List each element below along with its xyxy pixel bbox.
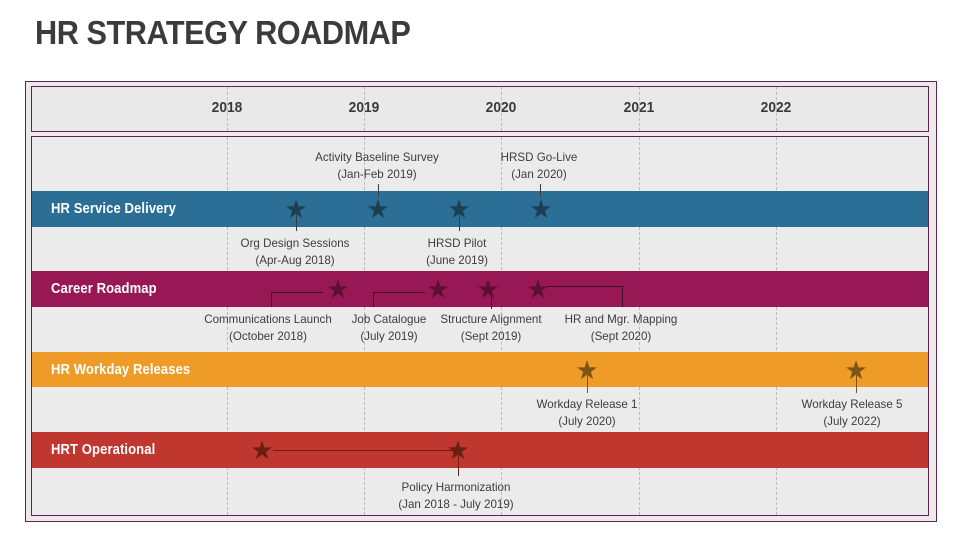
callout-title-hrsd-go-live: HRSD Go-Live	[501, 149, 578, 166]
milestone-star-hr-and-mgr-mapping[interactable]: ★	[526, 276, 549, 302]
callout-title-job-catalogue: Job Catalogue	[352, 311, 427, 328]
callout-communications-launch: Communications Launch(October 2018)	[204, 311, 332, 345]
callout-org-design-sessions: Org Design Sessions(Apr-Aug 2018)	[241, 235, 350, 269]
conn-job-catalogue-v	[373, 292, 374, 307]
callout-date-hrsd-go-live: (Jan 2020)	[501, 166, 578, 183]
lane-hr-service-delivery[interactable]: HR Service Delivery	[32, 191, 929, 227]
callout-date-policy-harmonization: (Jan 2018 - July 2019)	[398, 496, 513, 513]
callout-title-hr-and-mgr-mapping: HR and Mgr. Mapping	[565, 311, 678, 328]
milestone-star-job-catalogue[interactable]: ★	[426, 276, 449, 302]
lane-label-hr-service-delivery: HR Service Delivery	[51, 201, 176, 217]
milestone-star-structure-alignment[interactable]: ★	[476, 276, 499, 302]
callout-hr-and-mgr-mapping: HR and Mgr. Mapping(Sept 2020)	[565, 311, 678, 345]
milestone-star-activity-baseline-survey[interactable]: ★	[366, 196, 389, 222]
roadmap-body: HR Service Delivery★★★★Activity Baseline…	[31, 136, 929, 516]
milestone-star-policy-harmonization-end[interactable]: ★	[446, 437, 469, 463]
callout-date-structure-alignment: (Sept 2019)	[440, 328, 541, 345]
milestone-star-policy-harmonization-start[interactable]: ★	[250, 437, 273, 463]
milestone-star-communications-launch[interactable]: ★	[326, 276, 349, 302]
page-title: HR STRATEGY ROADMAP	[35, 14, 410, 52]
callout-hrsd-pilot: HRSD Pilot(June 2019)	[426, 235, 488, 269]
callout-title-activity-baseline-survey: Activity Baseline Survey	[315, 149, 439, 166]
callout-date-workday-release-5: (July 2022)	[802, 413, 903, 430]
callout-date-workday-release-1: (July 2020)	[537, 413, 638, 430]
conn-hr-mgr-mapping-h	[547, 286, 622, 287]
callout-date-hrsd-pilot: (June 2019)	[426, 252, 488, 269]
callout-structure-alignment: Structure Alignment(Sept 2019)	[440, 311, 541, 345]
conn-communications-launch-v	[271, 292, 272, 307]
lane-label-hr-workday-releases: HR Workday Releases	[51, 362, 190, 378]
milestone-star-workday-release-1[interactable]: ★	[575, 357, 598, 383]
gridline-2019-header	[364, 87, 365, 131]
callout-title-workday-release-5: Workday Release 5	[802, 396, 903, 413]
callout-date-job-catalogue: (July 2019)	[352, 328, 427, 345]
milestone-star-hrsd-go-live[interactable]: ★	[529, 196, 552, 222]
callout-title-org-design-sessions: Org Design Sessions	[241, 235, 350, 252]
gridline-2018-header	[227, 87, 228, 131]
lane-label-hrt-operational: HRT Operational	[51, 442, 155, 458]
conn-job-catalogue-h	[373, 292, 425, 293]
callout-title-communications-launch: Communications Launch	[204, 311, 332, 328]
lane-hr-workday-releases[interactable]: HR Workday Releases	[32, 352, 929, 387]
callout-hrsd-go-live: HRSD Go-Live(Jan 2020)	[501, 149, 578, 183]
lane-hrt-operational[interactable]: HRT Operational	[32, 432, 929, 468]
callout-job-catalogue: Job Catalogue(July 2019)	[352, 311, 427, 345]
lane-label-career-roadmap: Career Roadmap	[51, 281, 157, 297]
gridline-2022-header	[776, 87, 777, 131]
callout-date-activity-baseline-survey: (Jan-Feb 2019)	[315, 166, 439, 183]
milestone-star-hrsd-pilot[interactable]: ★	[447, 196, 470, 222]
callout-policy-harmonization: Policy Harmonization(Jan 2018 - July 201…	[398, 479, 513, 513]
timeline-year-header: 20182019202020212022	[31, 86, 929, 132]
callout-title-policy-harmonization: Policy Harmonization	[398, 479, 513, 496]
callout-title-workday-release-1: Workday Release 1	[537, 396, 638, 413]
callout-date-org-design-sessions: (Apr-Aug 2018)	[241, 252, 350, 269]
gridline-2021-header	[639, 87, 640, 131]
conn-hr-mgr-mapping-v	[622, 286, 623, 307]
milestone-star-workday-release-5[interactable]: ★	[844, 357, 867, 383]
policy-harmonization-arrow-line	[273, 450, 453, 451]
callout-title-hrsd-pilot: HRSD Pilot	[426, 235, 488, 252]
conn-communications-launch-h	[271, 292, 323, 293]
callout-workday-release-5: Workday Release 5(July 2022)	[802, 396, 903, 430]
callout-title-structure-alignment: Structure Alignment	[440, 311, 541, 328]
callout-workday-release-1: Workday Release 1(July 2020)	[537, 396, 638, 430]
gridline-2020-header	[501, 87, 502, 131]
callout-date-communications-launch: (October 2018)	[204, 328, 332, 345]
milestone-star-org-design-sessions[interactable]: ★	[284, 196, 307, 222]
callout-date-hr-and-mgr-mapping: (Sept 2020)	[565, 328, 678, 345]
callout-activity-baseline-survey: Activity Baseline Survey(Jan-Feb 2019)	[315, 149, 439, 183]
